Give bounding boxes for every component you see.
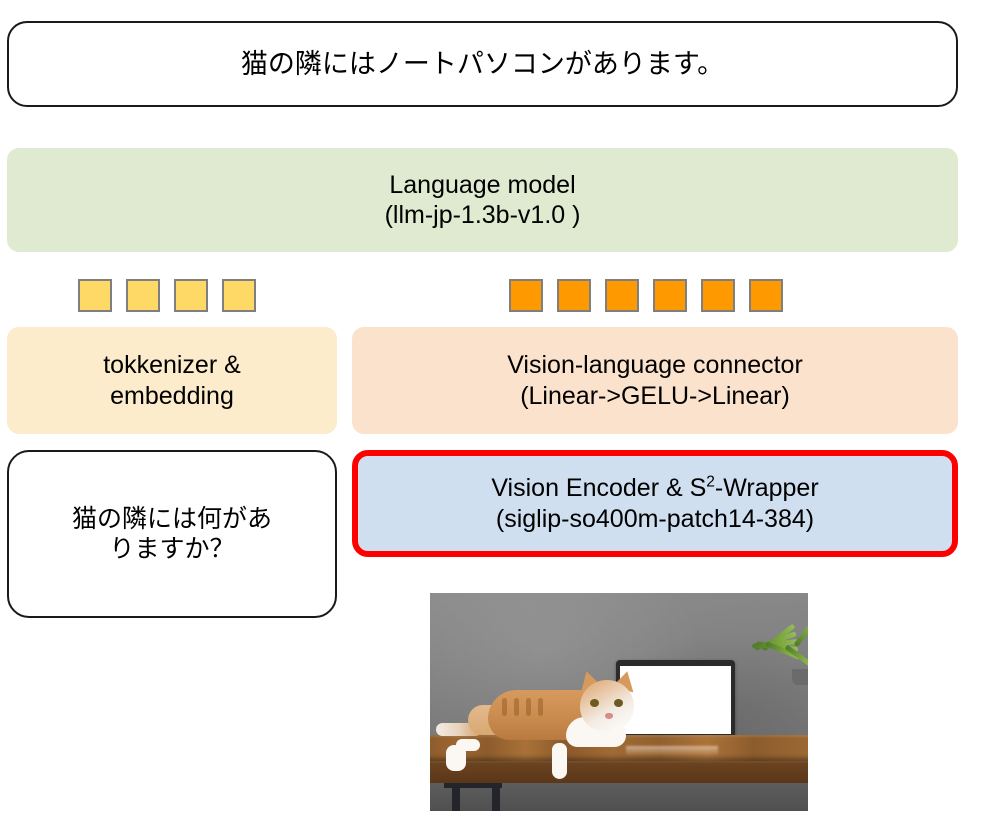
image-token-square <box>557 279 591 312</box>
image-token-square <box>653 279 687 312</box>
image-token-square <box>701 279 735 312</box>
language-model-block: Language model (llm-jp-1.3b-v1.0 ) <box>7 148 958 252</box>
image-token-square <box>749 279 783 312</box>
plant-icon <box>752 617 808 689</box>
image-token-square <box>509 279 543 312</box>
text-token-row <box>78 279 256 312</box>
plant-pot <box>792 669 808 685</box>
cat-paw <box>574 733 608 747</box>
text-token-square <box>222 279 256 312</box>
vision-encoder-title-prefix: Vision Encoder & S <box>491 474 706 502</box>
photo-table-leg <box>492 783 500 811</box>
cat-paw <box>446 745 466 771</box>
connector-subtitle: (Linear->GELU->Linear) <box>507 381 803 412</box>
cat-head <box>580 680 634 732</box>
cat-paw <box>552 743 567 779</box>
connector-title: Vision-language connector <box>507 350 803 381</box>
question-label: 猫の隣には何があ りますか？ <box>72 504 272 565</box>
photo-table-leg <box>452 783 460 811</box>
vision-encoder-title-suffix: -Wrapper <box>715 474 819 502</box>
tokenizer-title: tokkenizer & <box>103 350 241 381</box>
vision-encoder-label: Vision Encoder & S2-Wrapper (siglip-so40… <box>491 473 818 534</box>
input-image-photo <box>430 593 808 811</box>
model-output-box: 猫の隣にはノートパソコンがあります。 <box>7 21 958 107</box>
text-token-square <box>78 279 112 312</box>
laptop-icon <box>616 660 735 738</box>
text-token-square <box>174 279 208 312</box>
photo-table-edge <box>430 761 808 783</box>
cat-nose <box>605 713 613 719</box>
cat-eye <box>590 699 599 707</box>
tokenizer-subtitle: embedding <box>103 381 241 412</box>
language-model-label: Language model (llm-jp-1.3b-v1.0 ) <box>385 170 581 231</box>
vision-encoder-title: Vision Encoder & S2-Wrapper <box>491 473 818 504</box>
vision-encoder-subtitle: (siglip-so400m-patch14-384) <box>491 504 818 535</box>
image-token-square <box>605 279 639 312</box>
tokenizer-label: tokkenizer & embedding <box>103 350 241 411</box>
language-model-title: Language model <box>385 170 581 201</box>
model-output-text: 猫の隣にはノートパソコンがあります。 <box>241 48 724 81</box>
image-token-row <box>509 279 783 312</box>
laptop-reflection <box>626 746 718 756</box>
question-line-1: 猫の隣には何があ <box>72 504 272 535</box>
question-line-2: りますか？ <box>72 534 272 565</box>
tokenizer-embedding-block: tokkenizer & embedding <box>7 327 337 434</box>
vision-language-connector-block: Vision-language connector (Linear->GELU-… <box>352 327 958 434</box>
vision-encoder-block: Vision Encoder & S2-Wrapper (siglip-so40… <box>352 450 958 557</box>
user-question-box: 猫の隣には何があ りますか？ <box>7 450 337 618</box>
vision-encoder-superscript: 2 <box>706 474 715 491</box>
language-model-subtitle: (llm-jp-1.3b-v1.0 ) <box>385 200 581 231</box>
cat-eye <box>614 699 623 707</box>
text-token-square <box>126 279 160 312</box>
connector-label: Vision-language connector (Linear->GELU-… <box>507 350 803 411</box>
